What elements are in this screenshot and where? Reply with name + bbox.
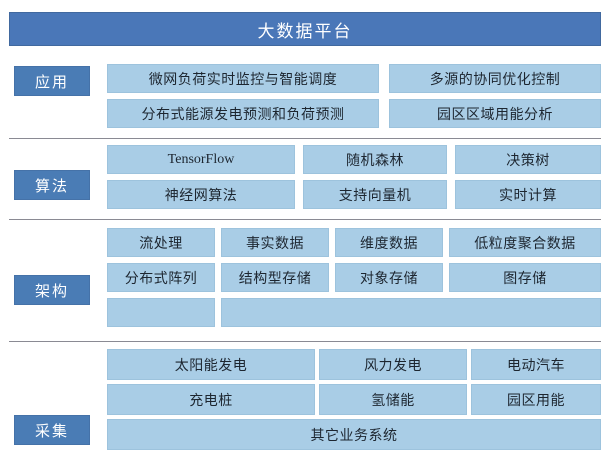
collection-cell-1-2[interactable]: 园区用能 — [471, 384, 601, 415]
collection-cell-0-1[interactable]: 风力发电 — [319, 349, 467, 380]
application-cell-0-1[interactable]: 多源的协同优化控制 — [389, 64, 601, 93]
algorithm-cell-0-1[interactable]: 随机森林 — [303, 145, 447, 174]
layer-label-application-text: 应用 — [35, 71, 69, 92]
layer-label-architecture-text: 架构 — [35, 280, 69, 301]
layer-separator-3 — [9, 341, 601, 342]
layer-separator-2 — [9, 219, 601, 220]
layer-label-algorithm[interactable]: 算法 — [14, 170, 90, 200]
algorithm-cell-1-0[interactable]: 神经网算法 — [107, 180, 295, 209]
collection-cell-2-0[interactable]: 其它业务系统 — [107, 419, 601, 450]
architecture-cell-0-1[interactable]: 事实数据 — [221, 228, 329, 257]
layer-separator-1 — [9, 138, 601, 139]
application-cell-1-1[interactable]: 园区区域用能分析 — [389, 99, 601, 128]
collection-cell-1-0[interactable]: 充电桩 — [107, 384, 315, 415]
architecture-cell-1-0[interactable]: 分布式阵列 — [107, 263, 215, 292]
collection-cell-1-1[interactable]: 氢储能 — [319, 384, 467, 415]
algorithm-cell-1-1[interactable]: 支持向量机 — [303, 180, 447, 209]
algorithm-cell-0-2[interactable]: 决策树 — [455, 145, 601, 174]
layer-label-algorithm-text: 算法 — [35, 175, 69, 196]
architecture-cell-0-0[interactable]: 流处理 — [107, 228, 215, 257]
layer-label-application[interactable]: 应用 — [14, 66, 90, 96]
layer-label-architecture[interactable]: 架构 — [14, 275, 90, 305]
page-title: 大数据平台 — [258, 17, 353, 42]
platform-title-bar: 大数据平台 — [9, 12, 601, 46]
architecture-cell-1-3[interactable]: 图存储 — [449, 263, 601, 292]
algorithm-cell-0-0[interactable]: TensorFlow — [107, 145, 295, 174]
application-cell-0-0[interactable]: 微网负荷实时监控与智能调度 — [107, 64, 379, 93]
layer-label-collection-text: 采集 — [35, 420, 69, 441]
collection-cell-0-2[interactable]: 电动汽车 — [471, 349, 601, 380]
algorithm-cell-1-2[interactable]: 实时计算 — [455, 180, 601, 209]
architecture-cell-0-2[interactable]: 维度数据 — [335, 228, 443, 257]
application-cell-1-0[interactable]: 分布式能源发电预测和负荷预测 — [107, 99, 379, 128]
collection-cell-0-0[interactable]: 太阳能发电 — [107, 349, 315, 380]
big-data-platform-diagram: 大数据平台 应用 微网负荷实时监控与智能调度 多源的协同优化控制 分布式能源发电… — [0, 0, 610, 469]
architecture-cell-2-1[interactable] — [221, 298, 601, 327]
layer-label-collection[interactable]: 采集 — [14, 415, 90, 445]
architecture-cell-0-3[interactable]: 低粒度聚合数据 — [449, 228, 601, 257]
architecture-cell-1-1[interactable]: 结构型存储 — [221, 263, 329, 292]
architecture-cell-1-2[interactable]: 对象存储 — [335, 263, 443, 292]
architecture-cell-2-0[interactable] — [107, 298, 215, 327]
